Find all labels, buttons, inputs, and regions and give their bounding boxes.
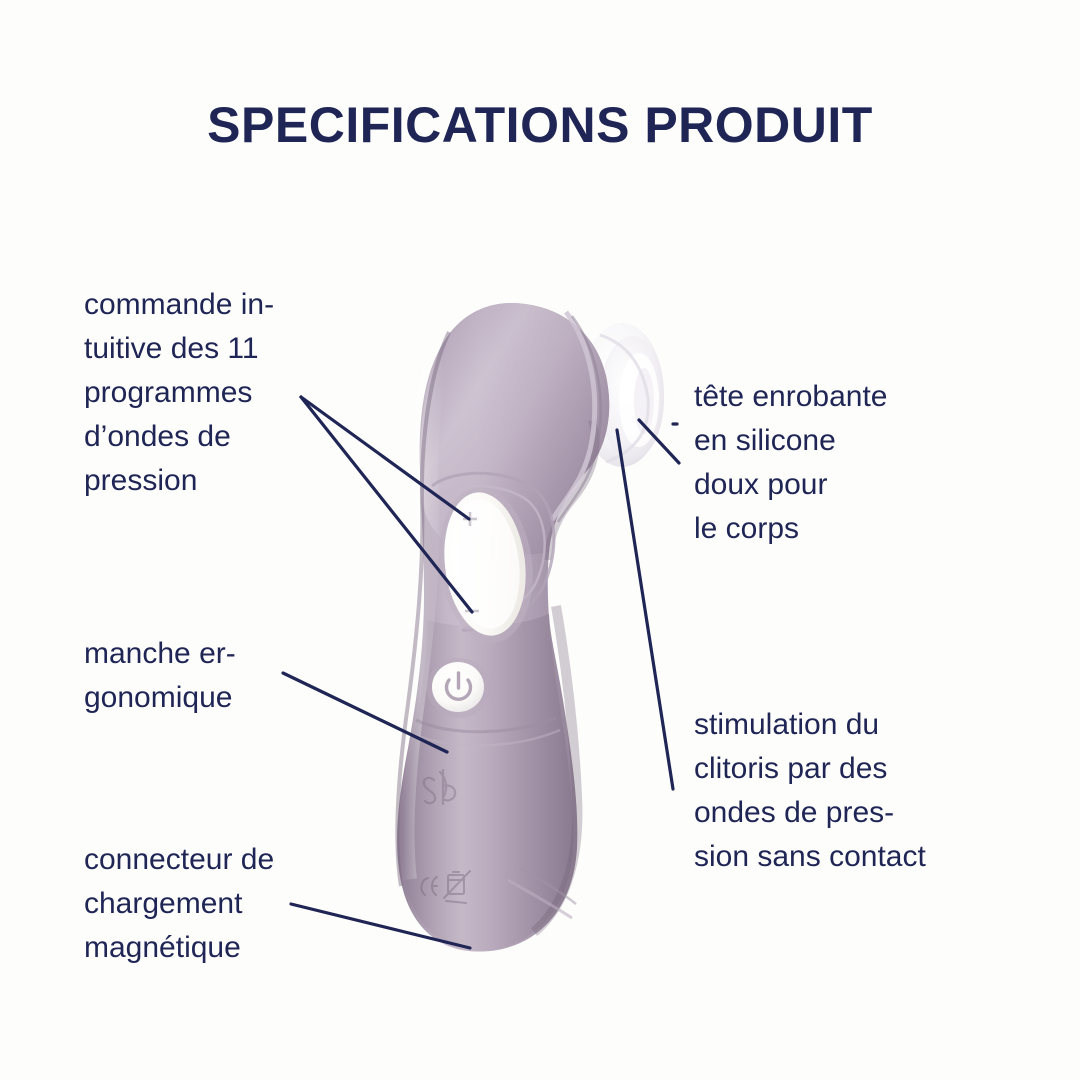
leader-line-charger — [291, 904, 470, 948]
leader-line-handle — [283, 673, 447, 752]
product-specification-infographic: SPECIFICATIONS PRODUIT — [0, 0, 1080, 1080]
leader-line-wave — [617, 430, 673, 789]
leader-line-head — [639, 420, 679, 463]
leader-lines — [0, 0, 1080, 1080]
